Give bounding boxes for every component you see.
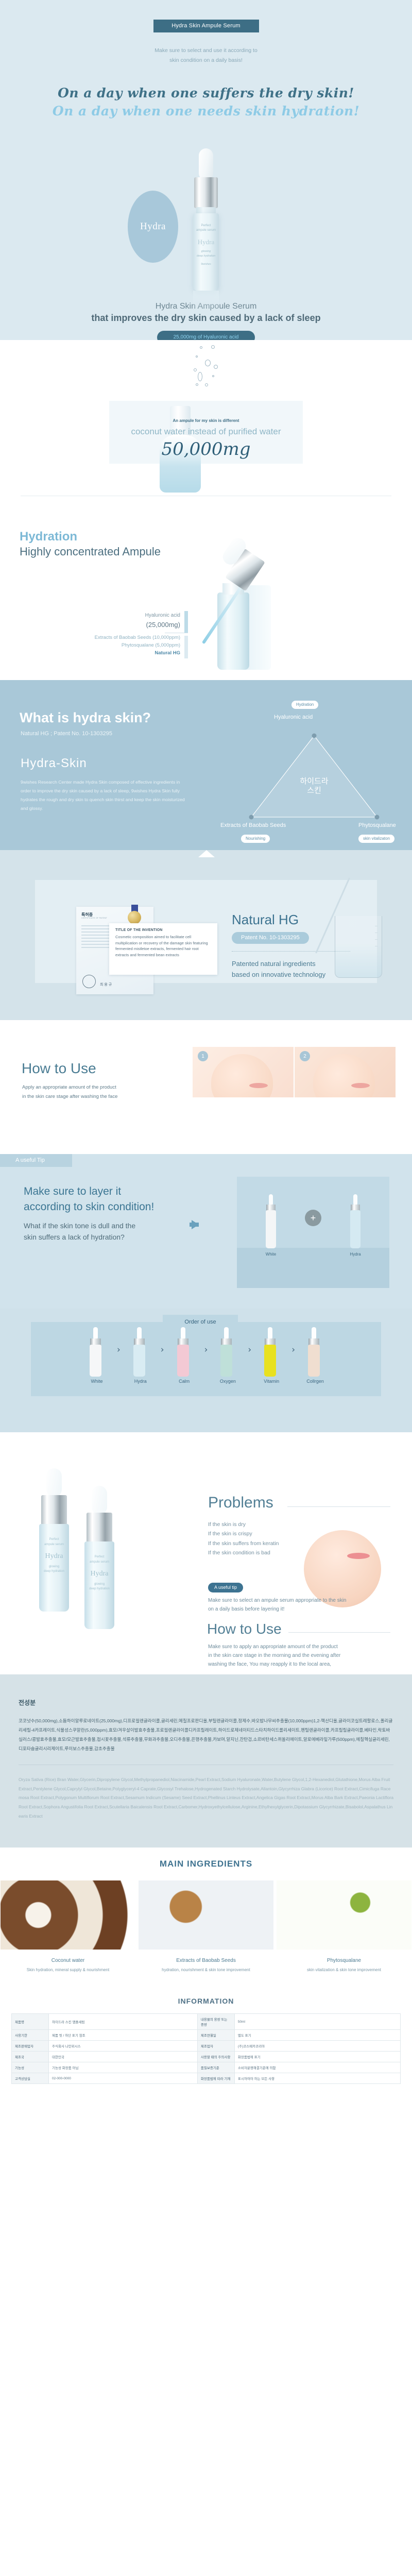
order-body-6 (308, 1345, 320, 1377)
info-key-1b: 내용물의 용량 또는 중량 (197, 2014, 234, 2030)
order-teat-icon-2 (137, 1327, 142, 1340)
bottle-label-it1: glowing (193, 249, 219, 253)
info-key-3b: 제조업자 (197, 2041, 234, 2052)
tip-question-line1: What if the skin tone is dull and the (24, 1222, 135, 1230)
spec-hyaluronic-name: Hyaluronic acid (145, 613, 180, 618)
twin-label-2: Perfect ampule serum Hydra glowing deep … (84, 1555, 114, 1592)
spec-bar-primary (184, 611, 188, 633)
mini-teat-icon (269, 1194, 273, 1206)
layering-illustration: White + Hydra (237, 1177, 389, 1288)
tip-question-line2: skin suffers a lack of hydration? (24, 1233, 125, 1241)
bottle-body: Perfect ampule serum Hydra glowing deep … (193, 213, 219, 291)
order-of-use-row: White › Hydra › Calm › Oxygen › (31, 1327, 381, 1388)
tag-hydration: Hydration (291, 701, 318, 709)
hydration-heading: Hydration (20, 530, 77, 544)
order-name-white: White (80, 1379, 114, 1384)
mini-body-2 (350, 1210, 360, 1248)
problems-tip-line1: Make sure to select an ampule serum appr… (208, 1598, 346, 1603)
ingredient-name-baobab: Extracts of Baobab Seeds (139, 1958, 273, 1963)
main-ingredients-title: MAIN INGREDIENTS (0, 1859, 412, 1869)
twin-label-1-it1: glowing (39, 1565, 69, 1570)
certificate-title-en: CERTIFICATE OF PATENT (81, 917, 107, 919)
info-key-4b: 사용할 때의 주의사항 (197, 2052, 234, 2062)
spec-hyaluronic: Hyaluronic acid (25,000mg) (62, 612, 180, 630)
problems-howto-line2: in the skin care stage in the morning an… (208, 1653, 340, 1658)
tip-heading-line1: Make sure to layer it (24, 1185, 121, 1197)
twin-label-2-it1: glowing (84, 1582, 114, 1587)
section-arrow-icon (198, 850, 215, 857)
step-number-1: 1 (198, 1051, 208, 1061)
hyaluronic-pill: 25,000mg of Hyaluronic acid (157, 331, 255, 340)
ingredient-desc-baobab: hydration, nourishment & skin tone impro… (139, 1968, 273, 1972)
table-row: 제조판매업자 주식회사 나인위시스 제조업자 (주)코스메카코리아 (12, 2041, 401, 2052)
twin-cap-2 (87, 1513, 112, 1543)
ingredients-korean: 코코넛수(50,000mg),소듐하이알루로네이트(25,000mg),디프로필… (19, 1716, 393, 1753)
spec-natural-hg: Natural HG (21, 649, 180, 657)
twin-label-2-big: Hydra (84, 1568, 114, 1580)
main-ingredients-section: MAIN INGREDIENTS Coconut water Skin hydr… (0, 1848, 412, 1988)
mini-bottle-name-hydra: Hydra (346, 1252, 365, 1257)
twin-body-1: Perfect ampule serum Hydra glowing deep … (39, 1524, 69, 1612)
baobab-photo (139, 1880, 273, 1950)
lip-shape-2 (351, 1083, 370, 1088)
hero-bottle-illustration: Hydra Perfect ampule serum Hydra glowing… (0, 130, 412, 300)
chevron-right-icon-3: › (204, 1345, 208, 1355)
problem-item-1: If the skin is dry (208, 1520, 279, 1529)
info-val-6b: 표시하여야 하는 모든 사항 (234, 2073, 400, 2084)
information-table-body: 제품명 하이드라 스킨 앰플세럼 내용물의 용량 또는 중량 50ml 사용기한… (12, 2014, 401, 2084)
spec-hyaluronic-value: (25,000mg) (62, 620, 180, 630)
product-detail-page: Hydra Skin Ampule Serum Make sure to sel… (0, 0, 412, 2105)
problem-item-3: If the skin suffers from keratin (208, 1539, 279, 1548)
tag-skin-vitalization: skin vitalizaton (358, 835, 394, 843)
tip-heading-line2: according to skin condition! (24, 1201, 154, 1213)
hydration-section: Hydration Highly concentrated Ampule Hya… (0, 510, 412, 680)
info-val-5: 기능성 화장품 아님 (49, 2062, 198, 2073)
ingredient-desc-phytosqualane: skin vitalization & skin tone improvemen… (277, 1968, 411, 1972)
lip-shape (249, 1083, 268, 1088)
ingredient-name-coconut: Coconut water (1, 1958, 135, 1963)
dotted-divider (232, 951, 350, 952)
coconut-eyebrow: An ampule for my skin is different (0, 418, 412, 423)
natural-hg-caption: Patented natural ingredients based on in… (232, 959, 350, 980)
chevron-right-icon-1: › (117, 1345, 121, 1355)
ingredient-card-phytosqualane: Phytosqualane skin vitalization & skin t… (277, 1880, 411, 1972)
info-val-2b: 별도 표기 (234, 2030, 400, 2041)
problems-list: If the skin is dry If the skin is crispy… (208, 1520, 279, 1558)
hero-script-line2: On a day when one needs skin hydration! (0, 104, 412, 118)
order-teat-icon-6 (312, 1327, 316, 1340)
info-val-4: 대한민국 (49, 2052, 198, 2062)
tip-question: What if the skin tone is dull and the sk… (24, 1220, 135, 1243)
bottle-label: Perfect ampule serum Hydra glowing deep … (193, 224, 219, 266)
spec-baobab: Extracts of Baobab Seeds (10,000ppm) (21, 634, 180, 641)
spec-divider (165, 633, 188, 633)
order-bottle-calm: Calm (167, 1327, 201, 1388)
section-divider (21, 496, 391, 496)
order-bottle-hydra: Hydra (124, 1327, 158, 1388)
tip-heading: Make sure to layer it according to skin … (24, 1184, 154, 1215)
coconut-photo (1, 1880, 135, 1950)
dropper-teat-icon (199, 148, 213, 179)
info-key-3: 제조판매업자 (12, 2041, 49, 2052)
chevron-right-icon-5: › (291, 1345, 295, 1355)
info-val-3b: (주)코스메카코리아 (234, 2041, 400, 2052)
bottle-label-line1: Perfect (193, 224, 219, 228)
order-name-calm: Calm (167, 1379, 201, 1384)
triangle-center-line1: 하이드라 (232, 777, 397, 786)
problems-howto-heading: How to Use (207, 1621, 282, 1637)
invention-heading: TITLE OF THE INVENTION (115, 928, 211, 932)
bottle-label-it2: deep hydration (193, 254, 219, 258)
hydration-subheading: Highly concentrated Ampule (20, 545, 161, 558)
tilted-bottle-illustration (206, 551, 273, 670)
order-bottle-collagen: Collrgen (298, 1327, 332, 1388)
natural-hg-copy: Natural HG Patent No. 10-1303295 Patente… (232, 912, 350, 980)
ingredient-name-phytosqualane: Phytosqualane (277, 1958, 411, 1963)
medal-icon (128, 911, 141, 924)
coconut-water-section: An ampule for my skin is different cocon… (0, 340, 412, 510)
bottle-label-line2: ampule serum (193, 228, 219, 233)
useful-tip-chip: A useful tip (208, 1583, 243, 1592)
info-val-1b: 50ml (234, 2014, 400, 2030)
bottle-label-brand: 9wishes (193, 262, 219, 266)
twin-cap-1 (41, 1495, 67, 1525)
order-body-4 (220, 1345, 232, 1377)
beaker-ticks: ———— (375, 923, 377, 950)
hero-subtitle-line2: skin condition on a daily basis! (0, 56, 412, 65)
natural-hg-section: 특허증 CERTIFICATE OF PATENT 최 용 규 TITLE OF… (0, 850, 412, 1020)
how-to-use-step-1: 1 (193, 1047, 294, 1097)
order-name-vitamin: Vitamin (254, 1379, 288, 1384)
ingredient-card-baobab: Extracts of Baobab Seeds hydration, nour… (139, 1880, 273, 1972)
hydra-skin-heading: What is hydra skin? (20, 710, 151, 726)
info-key-5b: 품질보증기준 (197, 2062, 234, 2073)
plus-icon: + (305, 1210, 321, 1226)
problems-rule (287, 1506, 390, 1507)
model-lip-shape (347, 1553, 370, 1559)
info-key-4: 제조국 (12, 2052, 49, 2062)
twin-label-2-it2: deep hydration (84, 1587, 114, 1592)
how-to-use-text: Apply an appropriate amount of the produ… (22, 1083, 117, 1101)
serum-bottle: Perfect ampule serum Hydra glowing deep … (187, 148, 225, 291)
coconut-headline: coconut water instead of purified water (0, 427, 412, 437)
twin-label-2-l2: ampule serum (84, 1560, 114, 1565)
twin-teat-icon-2 (92, 1486, 107, 1515)
spec-bar-secondary (184, 636, 188, 658)
order-body (90, 1345, 101, 1377)
info-val-4b: 화장품법에 표기 (234, 2052, 400, 2062)
mini-teat-icon-2 (353, 1194, 357, 1206)
beaker-icon: ———— (335, 916, 382, 978)
invention-text: Cosmetic composition aimed to facilitate… (115, 934, 211, 958)
hydra-circle-text: Hydra (140, 221, 166, 232)
chevron-right-icon-2: › (161, 1345, 164, 1355)
order-name-oxygen: Oxygen (211, 1379, 245, 1384)
ingredient-desc-coconut: Skin hydration, mineral supply & nourish… (1, 1968, 135, 1972)
coconut-amount: 50,000mg (0, 439, 412, 460)
hydra-skin-section: What is hydra skin? Natural HG ; Patent … (0, 680, 412, 850)
useful-tip-label: A useful Tip (0, 1154, 72, 1167)
twin-body-2: Perfect ampule serum Hydra glowing deep … (84, 1541, 114, 1629)
mini-body (266, 1210, 276, 1248)
tilted-bottle-body (217, 592, 249, 670)
twin-label-1-l1: Perfect (39, 1537, 69, 1543)
natural-hg-caption-line1: Patented natural ingredients (232, 960, 316, 968)
hero-subtitle: Make sure to select and use it according… (0, 46, 412, 66)
information-table: 제품명 하이드라 스킨 앰플세럼 내용물의 용량 또는 중량 50ml 사용기한… (11, 2013, 401, 2084)
info-key-6b: 화장품법에 따라 기재 (197, 2073, 234, 2084)
problems-tip-line2: on a daily basis before layering it! (208, 1606, 284, 1612)
order-name-hydra: Hydra (124, 1379, 158, 1384)
hero-subtitle-line1: Make sure to select and use it according… (0, 46, 412, 56)
order-bottle-vitamin: Vitamin (254, 1327, 288, 1388)
natural-hg-patent-pill: Patent No. 10-1303295 (232, 932, 309, 944)
table-row: 고객상담실 02-000-0000 화장품법에 따라 기재 표시하여야 하는 모… (12, 2073, 401, 2084)
spec-phytosqualane: Phytosqualane (5,000ppm) (21, 641, 180, 649)
certificate-signature: 최 용 규 (100, 982, 112, 987)
problems-howto-line1: Make sure to apply an appropriate amount… (208, 1644, 338, 1650)
table-row: 제조국 대한민국 사용할 때의 주의사항 화장품법에 표기 (12, 2052, 401, 2062)
node-hyaluronic-acid: Hyaluronic acid (274, 714, 313, 720)
useful-tip-section: A useful Tip Make sure to layer it accor… (0, 1154, 412, 1309)
hydra-circle-label: Hydra (128, 191, 178, 263)
order-teat-icon (93, 1327, 98, 1340)
order-body-2 (133, 1345, 145, 1377)
hero-script-line1: On a day when one suffers the dry skin! (0, 86, 412, 100)
information-section: INFORMATION 제품명 하이드라 스킨 앰플세럼 내용물의 용량 또는 … (0, 1988, 412, 2105)
full-ingredients-section: 전성분 코코넛수(50,000mg),소듐하이알루로네이트(25,000mg),… (0, 1674, 412, 1848)
natural-hg-caption-line2: based on innovative technology (232, 971, 325, 978)
water-droplets-icon (191, 345, 221, 402)
ingredient-card-coconut: Coconut water Skin hydration, mineral su… (1, 1880, 135, 1972)
olive-photo (277, 1880, 411, 1950)
main-ingredients-row: Coconut water Skin hydration, mineral su… (0, 1880, 412, 1972)
info-key-6: 고객상담실 (12, 2073, 49, 2084)
problems-howto-line3: washing the face, You may reapply it to … (208, 1662, 331, 1667)
twin-teat-icon-1 (46, 1468, 62, 1497)
face-photo-2 (313, 1054, 375, 1097)
mix-floor (237, 1248, 389, 1288)
info-key-5: 기능성 (12, 2062, 49, 2073)
ingredients-heading: 전성분 (19, 1698, 393, 1707)
problems-howto-rule (288, 1632, 390, 1633)
table-row: 사용기한 제품 뒷 / 하단 표기 참조 제조연월일 별도 표기 (12, 2030, 401, 2041)
how-to-use-section: How to Use Apply an appropriate amount o… (0, 1020, 412, 1154)
table-row: 기능성 기능성 화장품 아님 품질보증기준 소비자분쟁해결기준에 의함 (12, 2062, 401, 2073)
twin-label-1-big: Hydra (39, 1551, 69, 1562)
ingredients-english: Oryza Sativa (Rice) Bran Water,Glycerin,… (19, 1775, 393, 1821)
hero-section: Hydra Skin Ampule Serum Make sure to sel… (0, 0, 412, 340)
info-key-1: 제품명 (12, 2014, 49, 2030)
chevron-right-icon-4: › (248, 1345, 251, 1355)
bottle-label-brandline: Hydra (193, 237, 219, 247)
table-row: 제품명 하이드라 스킨 앰플세럼 내용물의 용량 또는 중량 50ml (12, 2014, 401, 2030)
order-body-5 (264, 1345, 276, 1377)
twin-label-1-l2: ampule serum (39, 1543, 69, 1548)
twin-label-1-it2: deep hydration (39, 1569, 69, 1574)
invention-card: TITLE OF THE INVENTION Cosmetic composit… (109, 923, 217, 975)
certificate-seal-icon (82, 975, 96, 988)
info-val-5b: 소비자분쟁해결기준에 의함 (234, 2062, 400, 2073)
page-subtitle: that improves the dry skin caused by a l… (0, 313, 412, 324)
problems-heading: Problems (208, 1494, 273, 1512)
how-to-use-line1: Apply an appropriate amount of the produ… (22, 1084, 116, 1090)
ingredients-divider (19, 1765, 393, 1765)
information-title: INFORMATION (11, 1997, 401, 2005)
order-name-collagen: Collrgen (298, 1379, 332, 1384)
mini-bottle-name-white: White (262, 1252, 280, 1257)
bottle-reflection (193, 291, 219, 312)
ingredient-triangle-diagram: Hydration Hyaluronic acid Extracts of Ba… (232, 700, 397, 844)
node-phytosqualane: Phytosqualane (358, 822, 396, 828)
order-bottle-white: White (80, 1327, 114, 1388)
info-val-3: 주식회사 나인위시스 (49, 2041, 198, 2052)
info-key-2: 사용기한 (12, 2030, 49, 2041)
hydra-skin-patent: Natural HG ; Patent No. 10-1303295 (21, 731, 112, 737)
how-to-use-heading: How to Use (22, 1060, 96, 1077)
order-teat-icon-4 (224, 1327, 229, 1340)
order-of-use-section: Order of use White › Hydra › Calm › (0, 1309, 412, 1432)
problem-item-4: If the skin condition is bad (208, 1548, 279, 1557)
product-badge: Hydra Skin Ampule Serum (153, 20, 259, 32)
info-val-2: 제품 뒷 / 하단 표기 참조 (49, 2030, 198, 2041)
triangle-center-line2: 스킨 (232, 786, 397, 795)
problems-tip-text: Make sure to select an ampule serum appr… (208, 1596, 346, 1614)
order-teat-icon-5 (268, 1327, 272, 1340)
problem-item-2: If the skin is crispy (208, 1529, 279, 1538)
twin-label-2-l1: Perfect (84, 1555, 114, 1560)
problems-section: Perfect ampule serum Hydra glowing deep … (0, 1432, 412, 1674)
node-baobab-seeds: Extracts of Baobab Seeds (220, 822, 286, 828)
order-teat-icon-3 (181, 1327, 185, 1340)
step-number-2: 2 (300, 1051, 310, 1061)
how-to-use-step-2: 2 (295, 1047, 396, 1097)
info-val-6: 02-000-0000 (49, 2073, 198, 2084)
face-photo (211, 1054, 273, 1097)
tag-nourishing: Nourishing (241, 835, 270, 843)
hydra-skin-body: 9wishes Research Center made Hydra Skin … (21, 778, 191, 813)
info-key-2b: 제조연월일 (197, 2030, 234, 2041)
order-bottle-oxygen: Oxygen (211, 1327, 245, 1388)
order-body-3 (177, 1345, 189, 1377)
arrow-right-icon (192, 1220, 199, 1229)
info-val-1: 하이드라 스킨 앰플세럼 (49, 2014, 198, 2030)
spec-others: Extracts of Baobab Seeds (10,000ppm) Phy… (21, 634, 180, 657)
twin-label-1: Perfect ampule serum Hydra glowing deep … (39, 1537, 69, 1574)
hydra-skin-subheading: Hydra-Skin (21, 756, 87, 771)
bottle-cap (194, 177, 218, 208)
how-to-use-line2: in the skin care stage after washing the… (22, 1094, 117, 1099)
twin-bottles-illustration: Perfect ampule serum Hydra glowing deep … (26, 1456, 180, 1662)
problems-howto-text: Make sure to apply an appropriate amount… (208, 1642, 340, 1669)
